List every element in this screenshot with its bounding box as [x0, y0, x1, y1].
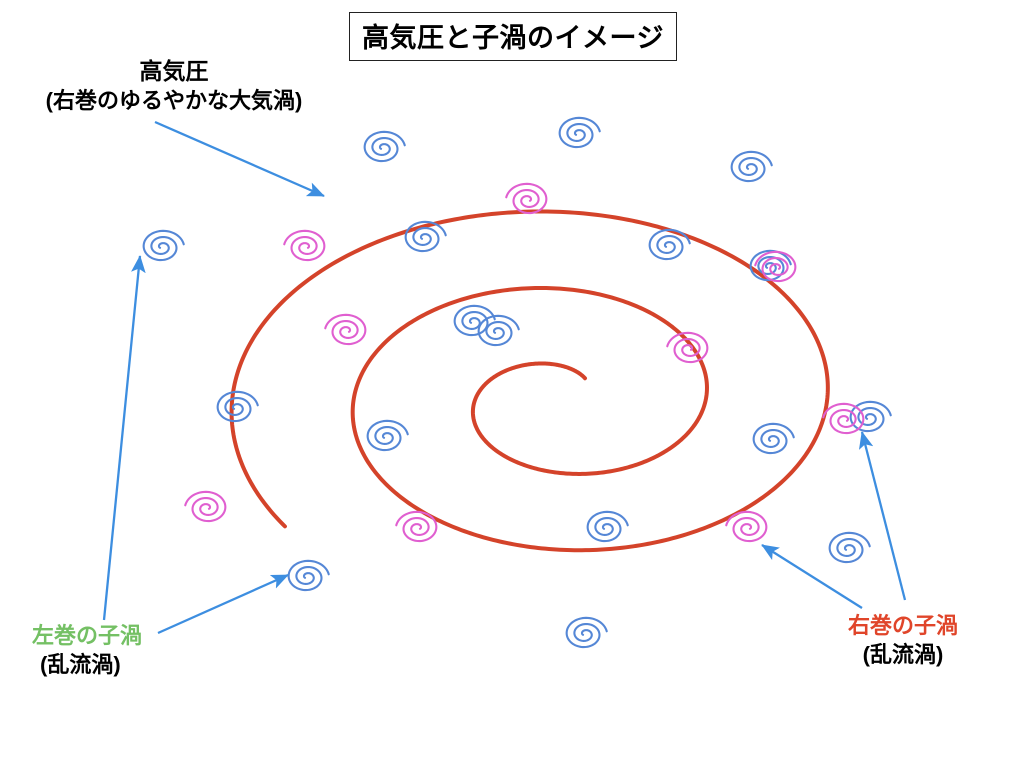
title-text: 高気圧と子渦のイメージ — [362, 23, 664, 53]
left-vortex-icon — [455, 306, 495, 335]
label-left-vortex-line1: 左巻の子渦 — [32, 622, 142, 651]
right-vortex-icon — [284, 231, 324, 260]
main-spiral-path — [232, 211, 828, 550]
annotation-arrows — [104, 122, 905, 633]
left-vortex-icon — [851, 402, 891, 431]
right-vortex-icon — [667, 333, 707, 362]
annotation-arrow — [158, 575, 288, 633]
left-vortex-icon — [365, 132, 405, 161]
left-vortex-icon — [754, 424, 794, 453]
annotation-arrow — [155, 122, 324, 196]
label-left-vortex-line2: (乱流渦) — [32, 651, 142, 680]
label-high-pressure-line2: (右巻のゆるやかな大気渦) — [24, 87, 324, 116]
right-vortex-icon — [185, 492, 225, 521]
diagram-canvas: 高気圧と子渦のイメージ 高気圧 (右巻のゆるやかな大気渦) 左巻の子渦 (乱流渦… — [0, 0, 1024, 768]
left-vortex-icon — [567, 618, 607, 647]
left-vortex-icon — [144, 231, 184, 260]
label-left-vortex: 左巻の子渦 (乱流渦) — [32, 622, 142, 679]
label-right-vortex-line1: 右巻の子渦 — [838, 612, 968, 641]
left-handed-child-vortices — [144, 118, 891, 647]
annotation-arrow — [862, 432, 905, 600]
right-vortex-icon — [396, 512, 436, 541]
label-right-vortex-line2: (乱流渦) — [838, 641, 968, 670]
main-spiral-high-pressure — [232, 211, 828, 550]
left-vortex-icon — [560, 118, 600, 147]
right-vortex-icon — [726, 512, 766, 541]
left-vortex-icon — [588, 512, 628, 541]
label-high-pressure-line1: 高気圧 — [24, 57, 324, 87]
left-vortex-icon — [218, 392, 258, 421]
left-vortex-icon — [830, 533, 870, 562]
right-handed-child-vortices — [185, 184, 863, 541]
right-vortex-icon — [325, 315, 365, 344]
left-vortex-icon — [650, 230, 690, 259]
left-vortex-icon — [368, 421, 408, 450]
page-title: 高気圧と子渦のイメージ — [349, 12, 677, 61]
annotation-arrow — [104, 256, 140, 620]
right-vortex-icon — [506, 184, 546, 213]
label-right-vortex: 右巻の子渦 (乱流渦) — [838, 612, 968, 669]
left-vortex-icon — [289, 561, 329, 590]
left-vortex-icon — [732, 152, 772, 181]
right-vortex-icon — [823, 404, 863, 433]
annotation-arrow — [762, 545, 862, 608]
label-high-pressure: 高気圧 (右巻のゆるやかな大気渦) — [24, 57, 324, 115]
